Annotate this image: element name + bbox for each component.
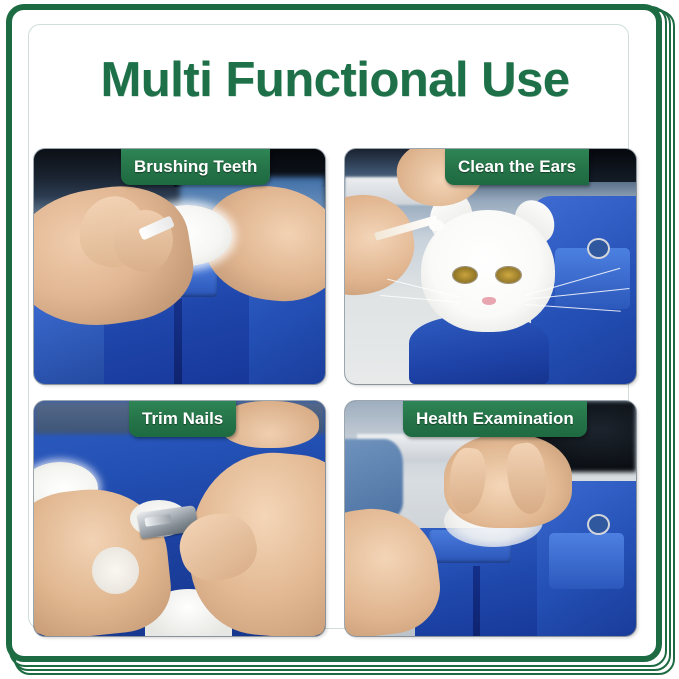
- feature-tile-brushing-teeth[interactable]: Brushing Teeth: [34, 149, 325, 384]
- bag-zipper: [174, 299, 183, 384]
- bag-zipper: [473, 566, 480, 637]
- tile-label-badge: Clean the Ears: [445, 149, 589, 185]
- bag-grommet-icon: [587, 514, 610, 535]
- poster: Multi Functional Use: [0, 0, 679, 679]
- page-title: Multi Functional Use: [12, 56, 658, 105]
- cat-fur-center: [92, 547, 139, 594]
- bag-side-flap: [549, 533, 625, 589]
- feature-tile-health-examination[interactable]: Health Examination: [345, 401, 636, 636]
- feature-tile-clean-the-ears[interactable]: Clean the Ears: [345, 149, 636, 384]
- tile-label-text: Brushing Teeth: [134, 157, 257, 177]
- tile-label-badge: Brushing Teeth: [121, 149, 270, 185]
- tile-label-badge: Health Examination: [403, 401, 587, 437]
- page-title-text: Multi Functional Use: [100, 56, 569, 105]
- tile-label-text: Clean the Ears: [458, 157, 576, 177]
- cat-right-eye: [496, 267, 521, 283]
- tile-label-text: Health Examination: [416, 409, 574, 429]
- cotton-swab-tip: [429, 220, 444, 232]
- feature-grid: Brushing Teeth: [34, 149, 636, 636]
- groomer-smock: [345, 439, 403, 519]
- poster-frame: Multi Functional Use: [6, 4, 662, 662]
- cat-left-eye: [453, 267, 478, 283]
- feature-tile-trim-nails[interactable]: Trim Nails: [34, 401, 325, 636]
- tile-label-badge: Trim Nails: [129, 401, 236, 437]
- tile-label-text: Trim Nails: [142, 409, 223, 429]
